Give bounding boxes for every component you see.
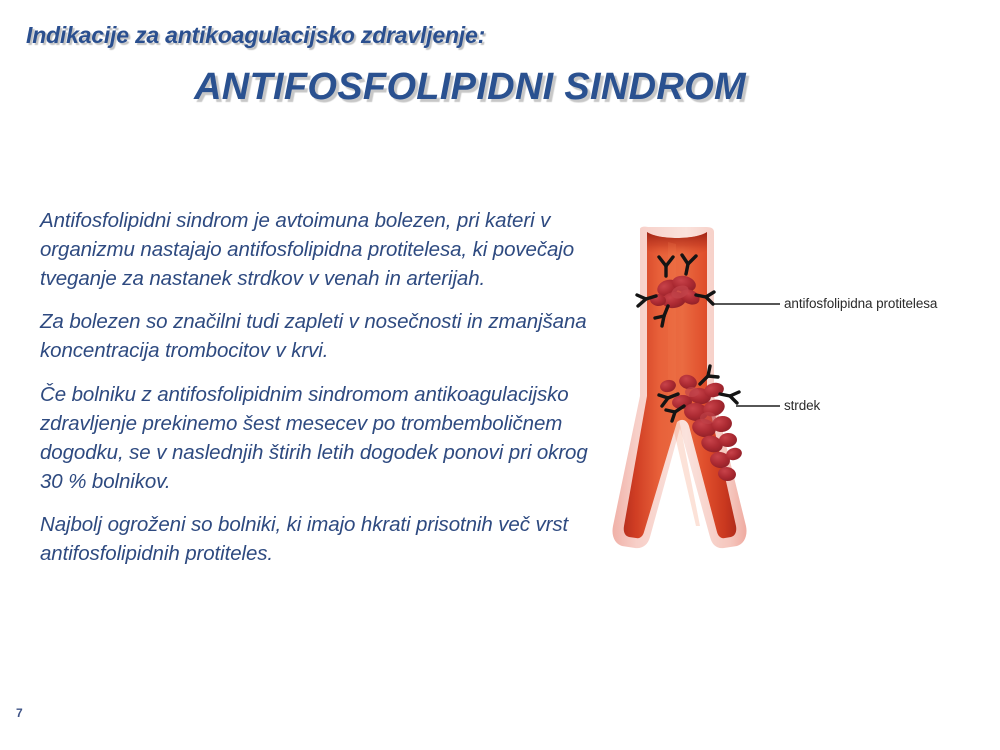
vessel-diagram-svg <box>596 196 1000 576</box>
callout-leader-lines <box>714 304 780 406</box>
callout-label-clot: strdek <box>784 398 820 413</box>
page-number: 7 <box>16 706 23 720</box>
vessel-illustration: antifosfolipidna protitelesa strdek <box>596 196 1000 576</box>
paragraph: Če bolniku z antifosfolipidnim sindromom… <box>40 380 600 496</box>
slide-title: ANTIFOSFOLIPIDNI SINDROM <box>0 66 1000 109</box>
callout-label-antibodies: antifosfolipidna protitelesa <box>784 296 937 311</box>
paragraph: Za bolezen so značilni tudi zapleti v no… <box>40 307 600 365</box>
body-text-column: Antifosfolipidni sindrom je avtoimuna bo… <box>40 206 600 568</box>
slide-eyebrow: Indikacije za antikoagulacijsko zdravlje… <box>26 22 485 49</box>
paragraph: Najbolj ogroženi so bolniki, ki imajo hk… <box>40 510 600 568</box>
slide: Indikacije za antikoagulacijsko zdravlje… <box>0 0 1000 750</box>
paragraph: Antifosfolipidni sindrom je avtoimuna bo… <box>40 206 600 293</box>
